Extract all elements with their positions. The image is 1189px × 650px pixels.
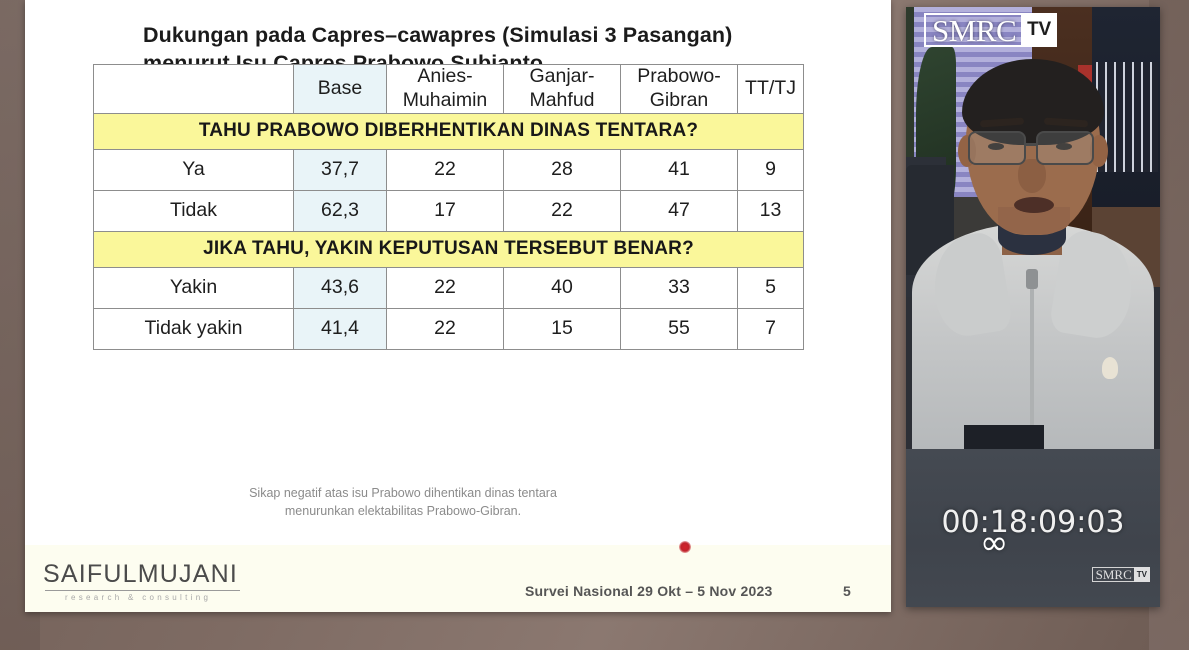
cell-ttj: 13 (738, 190, 804, 231)
table-header-row: Base Anies- Muhaimin Ganjar- Mahfud Prab… (94, 65, 804, 114)
speaker-hoodie-zipper-pull (1026, 269, 1038, 289)
column-header-anies-line2: Muhaimin (387, 89, 503, 113)
cell-base: 37,7 (294, 149, 387, 190)
cell-prabowo: 41 (621, 149, 738, 190)
saiful-mujani-logo-tagline: research & consulting (43, 593, 263, 602)
saiful-mujani-logo-name: SAIFULMUJANI (43, 562, 263, 587)
section-heading-1: JIKA TAHU, YAKIN KEPUTUSAN TERSEBUT BENA… (94, 231, 804, 267)
presentation-slide: Dukungan pada Capres–cawapres (Simulasi … (25, 0, 891, 612)
screen-root: Dukungan pada Capres–cawapres (Simulasi … (0, 0, 1189, 650)
table-header: Base Anies- Muhaimin Ganjar- Mahfud Prab… (94, 65, 804, 114)
smrc-logo-tv-badge: TV (1021, 13, 1057, 47)
laser-pointer-dot (679, 541, 691, 553)
column-header-ttj: TT/TJ (738, 65, 804, 114)
data-table-wrapper: Base Anies- Muhaimin Ganjar- Mahfud Prab… (93, 64, 803, 350)
section-heading-0: TAHU PRABOWO DIBERHENTIKAN DINAS TENTARA… (94, 113, 804, 149)
column-header-prabowo-gibran: Prabowo- Gibran (621, 65, 738, 114)
slide-footnote-line2: menurunkan elektabilitas Prabowo-Gibran. (143, 502, 663, 520)
speaker-mouth (1014, 197, 1054, 213)
cell-ganjar: 40 (504, 267, 621, 308)
cell-base: 43,6 (294, 267, 387, 308)
slide-footer-text: Survei Nasional 29 Okt – 5 Nov 2023 (525, 583, 772, 599)
smrc-tv-watermark: SMRC TV (1092, 567, 1150, 582)
cell-anies: 22 (387, 267, 504, 308)
saiful-mujani-logo: SAIFULMUJANI research & consulting (43, 562, 263, 602)
speaker-eyeglass-bridge (1025, 143, 1038, 146)
cell-anies: 22 (387, 149, 504, 190)
cell-prabowo: 47 (621, 190, 738, 231)
slide-footnote-line1: Sikap negatif atas isu Prabowo dihentika… (143, 484, 663, 502)
cell-base: 41,4 (294, 308, 387, 349)
table-body: TAHU PRABOWO DIBERHENTIKAN DINAS TENTARA… (94, 113, 804, 349)
cell-ganjar: 28 (504, 149, 621, 190)
smrc-logo-mark: SMRC (924, 13, 1021, 47)
smrc-tv-logo: SMRC TV (924, 13, 1057, 47)
column-header-ganjar-line2: Mahfud (504, 89, 620, 113)
loop-infinity-icon: ∞ (980, 523, 1008, 563)
speaker-eyeglass-lens-right (1036, 131, 1094, 165)
row-label: Yakin (94, 267, 294, 308)
video-panel[interactable]: SMRC TV 00:18:09:03 ∞ SMRC TV (906, 7, 1160, 607)
slide-page-number: 5 (843, 583, 851, 599)
cell-base: 62,3 (294, 190, 387, 231)
table-row: Tidak yakin 41,4 22 15 55 7 (94, 308, 804, 349)
cell-anies: 17 (387, 190, 504, 231)
cell-ttj: 9 (738, 149, 804, 190)
table-row: Ya 37,7 22 28 41 9 (94, 149, 804, 190)
column-header-blank (94, 65, 294, 114)
cell-anies: 22 (387, 308, 504, 349)
slide-footnote: Sikap negatif atas isu Prabowo dihentika… (143, 484, 663, 520)
column-header-anies-line1: Anies- (387, 65, 503, 89)
laptop-edge (964, 425, 1044, 449)
page-title-line1: Dukungan pada Capres–cawapres (Simulasi … (143, 22, 843, 50)
row-label: Tidak yakin (94, 308, 294, 349)
table-row: Yakin 43,6 22 40 33 5 (94, 267, 804, 308)
row-label: Tidak (94, 190, 294, 231)
column-header-ganjar-line1: Ganjar- (504, 65, 620, 89)
cell-ganjar: 15 (504, 308, 621, 349)
row-label: Ya (94, 149, 294, 190)
smrc-watermark-mark: SMRC (1092, 567, 1134, 582)
column-header-ganjar-mahfud: Ganjar- Mahfud (504, 65, 621, 114)
video-scene (906, 7, 1160, 449)
video-bottom-bar: 00:18:09:03 ∞ SMRC TV (906, 449, 1160, 607)
table-row: Tidak 62,3 17 22 47 13 (94, 190, 804, 231)
column-header-prabowo-line2: Gibran (621, 89, 737, 113)
survey-data-table: Base Anies- Muhaimin Ganjar- Mahfud Prab… (93, 64, 804, 350)
section-header-row: JIKA TAHU, YAKIN KEPUTUSAN TERSEBUT BENA… (94, 231, 804, 267)
column-header-base: Base (294, 65, 387, 114)
smrc-watermark-tv-badge: TV (1134, 567, 1150, 582)
speaker-eyeglass-lens-left (968, 131, 1026, 165)
cell-ttj: 7 (738, 308, 804, 349)
column-header-prabowo-line1: Prabowo- (621, 65, 737, 89)
section-header-row: TAHU PRABOWO DIBERHENTIKAN DINAS TENTARA… (94, 113, 804, 149)
saiful-mujani-logo-rule (45, 590, 240, 591)
cell-ttj: 5 (738, 267, 804, 308)
cell-prabowo: 55 (621, 308, 738, 349)
speaker-hoodie-zip (1030, 275, 1034, 449)
timecode-display: 00:18:09:03 (906, 505, 1160, 540)
cell-prabowo: 33 (621, 267, 738, 308)
column-header-anies-muhaimin: Anies- Muhaimin (387, 65, 504, 114)
cell-ganjar: 22 (504, 190, 621, 231)
speaker-chest-badge (1102, 357, 1118, 379)
